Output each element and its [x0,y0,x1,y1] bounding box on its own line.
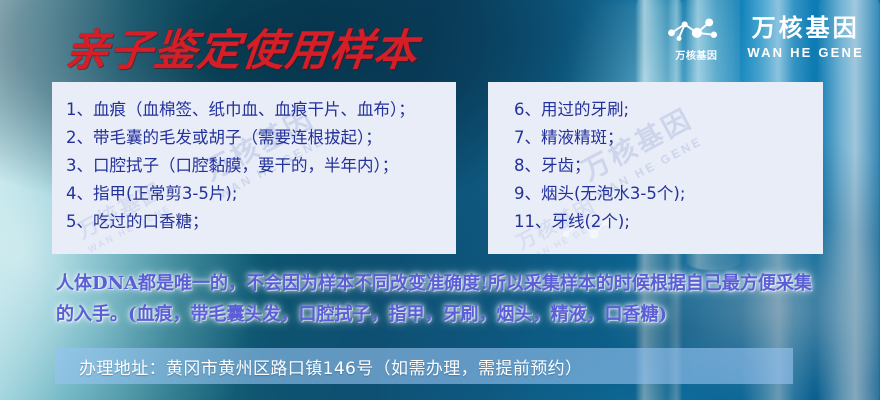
list-item: 11、牙线(2个); [502,208,823,236]
sample-list-panel-right: 万核基因 WAN HE GENE 万核基因 WAN HE GENE 6、用过的牙… [488,82,823,254]
sample-list-left: 1、血痕（血棉签、纸巾血、血痕干片、血布）； 2、带毛囊的毛发或胡子（需要连根拔… [52,82,456,236]
paragraph-line: 的入手。(血痕，带毛囊头发，口腔拭子，指甲，牙刷，烟头，精液，口香糖) [56,299,846,330]
list-item: 3、口腔拭子（口腔黏膜，要干的，半年内）； [66,152,456,180]
molecule-node-icon: 万核基因 [659,14,733,62]
brand-text: 万核基因 WAN HE GENE [747,16,864,59]
sample-list-panel-left: 万核基因 WAN HE GENE 万核基因 WAN HE GENE 1、血痕（血… [52,82,456,254]
list-item: 4、指甲(正常剪3-5片); [66,180,456,208]
list-item: 2、带毛囊的毛发或胡子（需要连根拔起）； [66,124,456,152]
list-item: 6、用过的牙刷; [502,96,823,124]
list-item: 5、吃过的口香糖； [66,208,456,236]
address-text: 办理地址：黄冈市黄州区路口镇146号（如需办理，需提前预约） [55,354,582,379]
brand-mark-label: 万核基因 [675,47,717,62]
brand-logo: 万核基因 万核基因 WAN HE GENE [659,14,864,62]
list-item: 1、血痕（血棉签、纸巾血、血痕干片、血布）； [66,96,456,124]
list-item: 8、牙齿； [502,152,823,180]
paragraph-line: 人体DNA都是唯一的，不会因为样本不同改变准确度!所以采集样本的时候根据自己最方… [56,268,846,299]
list-item: 9、烟头(无泡水3-5个); [502,180,823,208]
address-bar: 办理地址：黄冈市黄州区路口镇146号（如需办理，需提前预约） [55,348,793,384]
brand-name-en: WAN HE GENE [747,45,864,60]
brand-name-cn: 万核基因 [752,16,860,41]
list-item: 7、精液精斑； [502,124,823,152]
sample-list-right: 6、用过的牙刷; 7、精液精斑； 8、牙齿； 9、烟头(无泡水3-5个); 11… [488,82,823,236]
description-paragraph: 人体DNA都是唯一的，不会因为样本不同改变准确度!所以采集样本的时候根据自己最方… [56,268,846,330]
page-title: 亲子鉴定使用样本 [63,16,422,78]
poster-canvas: 亲子鉴定使用样本 万核 [0,0,880,400]
